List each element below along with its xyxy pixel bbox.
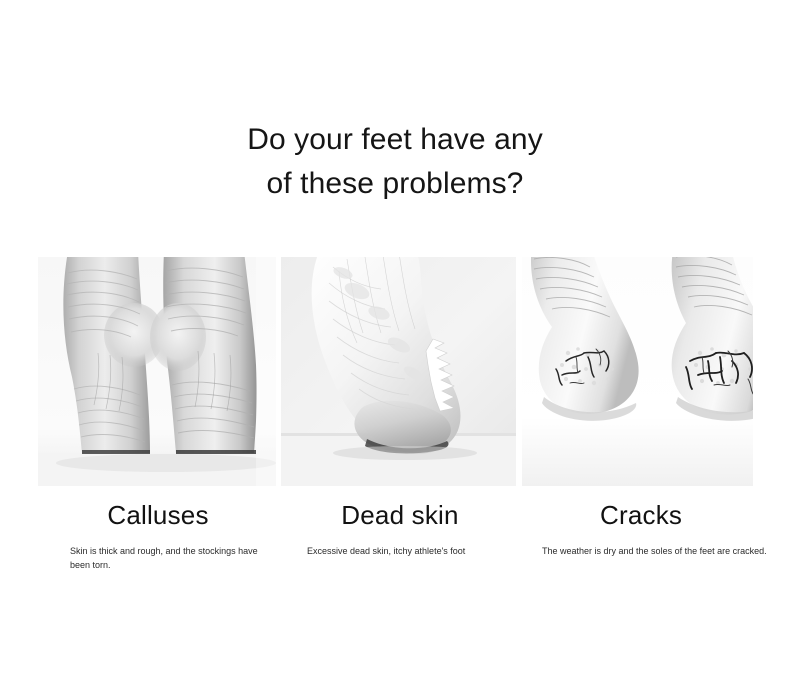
problem-photo-strip	[0, 257, 790, 486]
right-cracked-heel	[672, 257, 753, 421]
caption-body-cracks: The weather is dry and the soles of the …	[520, 544, 770, 558]
photo-cracks	[522, 257, 753, 486]
caption-heading-calluses: Calluses	[38, 498, 278, 532]
deadskin-image	[281, 257, 516, 486]
calluses-image	[38, 257, 276, 486]
photo-calluses	[38, 257, 276, 486]
caption-heading-cracks: Cracks	[520, 498, 770, 532]
caption-deadskin: Dead skin Excessive dead skin, itchy ath…	[281, 498, 519, 558]
photo-deadskin	[281, 257, 516, 486]
page-title-line-1: Do your feet have any	[0, 118, 790, 162]
caption-heading-deadskin: Dead skin	[281, 498, 519, 532]
cracks-image	[522, 257, 753, 486]
caption-body-calluses: Skin is thick and rough, and the stockin…	[38, 544, 278, 572]
page-title: Do your feet have any of these problems?	[0, 118, 790, 206]
caption-calluses: Calluses Skin is thick and rough, and th…	[38, 498, 278, 572]
caption-body-deadskin: Excessive dead skin, itchy athlete's foo…	[281, 544, 519, 558]
caption-cracks: Cracks The weather is dry and the soles …	[520, 498, 770, 558]
page-title-line-2: of these problems?	[0, 162, 790, 206]
